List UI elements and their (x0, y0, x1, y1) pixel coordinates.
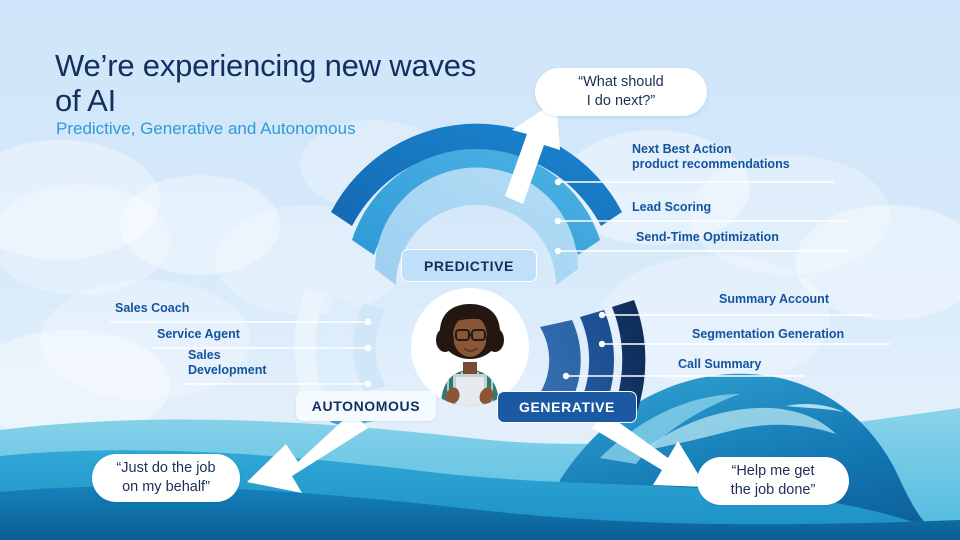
callout-sales-development: Sales Development (188, 348, 328, 378)
callout-send-time-optimization: Send-Time Optimization (636, 230, 856, 245)
callout-sales-coach: Sales Coach (115, 301, 295, 316)
speech-bubble-autonomous: “Just do the job on my behalf” (92, 454, 240, 502)
pill-generative[interactable]: GENERATIVE (497, 391, 637, 423)
pill-autonomous[interactable]: AUTONOMOUS (296, 391, 436, 421)
callout-next-best-action: Next Best Action product recommendations (632, 142, 872, 172)
pill-predictive[interactable]: PREDICTIVE (401, 249, 537, 282)
callout-segmentation-generation: Segmentation Generation (692, 327, 922, 342)
generative-arc-inner (540, 320, 581, 400)
callout-call-summary: Call Summary (678, 357, 868, 372)
speech-bubble-predictive: “What should I do next?” (535, 68, 707, 116)
page-subtitle: Predictive, Generative and Autonomous (56, 119, 486, 139)
callout-lead-scoring: Lead Scoring (632, 200, 832, 215)
page-title: We’re experiencing new waves of AI (55, 48, 485, 118)
person-with-tablet-icon (411, 288, 529, 406)
slide-canvas: We’re experiencing new waves of AI Predi… (0, 0, 960, 540)
arrow-down-right-icon (592, 413, 706, 487)
speech-bubble-generative: “Help me get the job done” (697, 457, 849, 505)
callout-service-agent: Service Agent (157, 327, 337, 342)
callout-summary-account: Summary Account (719, 292, 919, 307)
arrow-down-left-icon (247, 412, 368, 493)
